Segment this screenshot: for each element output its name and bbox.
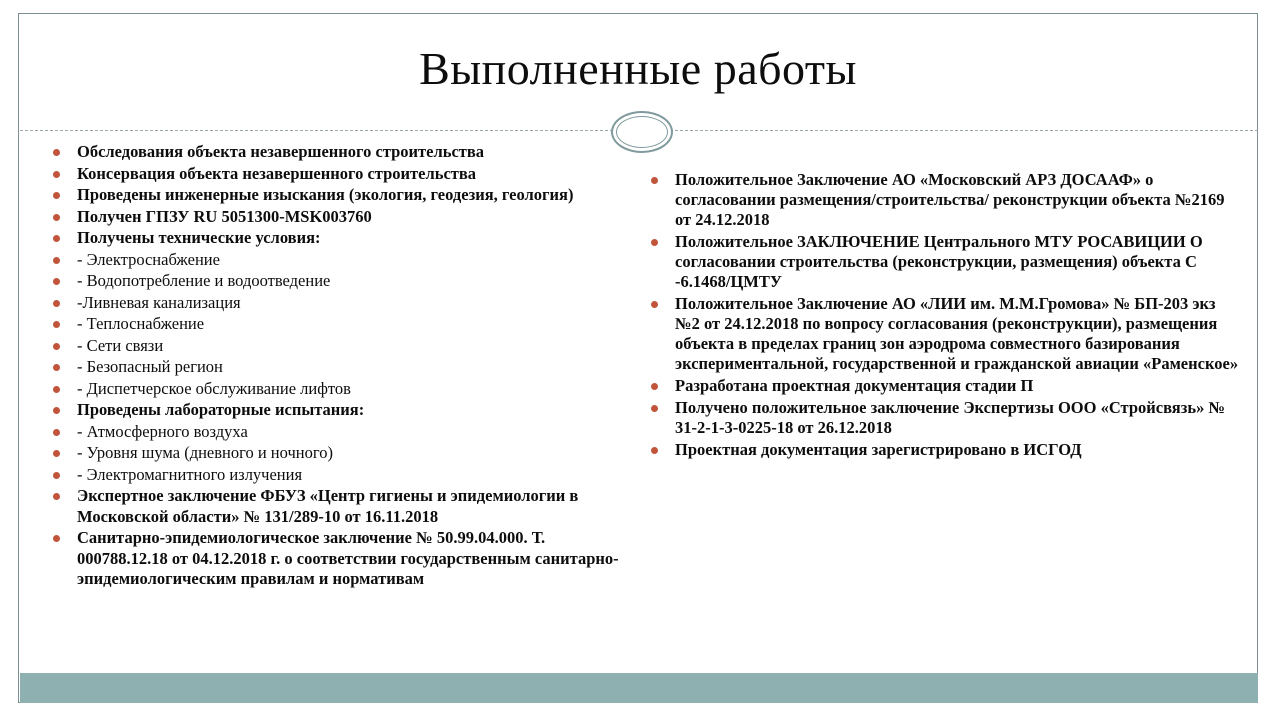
page-title: Выполненные работы xyxy=(19,42,1257,95)
content-columns: Обследования объекта незавершенного стро… xyxy=(19,142,1257,662)
list-item-left-8: - Теплоснабжение xyxy=(35,314,635,335)
list-item-left-17: Санитарно-эпидемиологическое заключение … xyxy=(35,528,635,590)
list-item-left-13: - Атмосферного воздуха xyxy=(35,422,635,443)
slide: Выполненные работы Обследования объекта … xyxy=(18,13,1258,703)
list-item-left-2: Проведены инженерные изыскания (экология… xyxy=(35,185,635,206)
list-item-right-3: Разработана проектная документация стади… xyxy=(633,376,1243,396)
list-item-left-7: -Ливневая канализация xyxy=(35,293,635,314)
list-item-right-1: Положительное ЗАКЛЮЧЕНИЕ Центрального МТ… xyxy=(633,232,1243,292)
list-item-right-4: Получено положительное заключение Экспер… xyxy=(633,398,1243,438)
list-item-right-0: Положительное Заключение АО «Московский … xyxy=(633,170,1243,230)
list-item-left-3: Получен ГПЗУ RU 5051300-MSK003760 xyxy=(35,207,635,228)
list-item-left-0: Обследования объекта незавершенного стро… xyxy=(35,142,635,163)
list-item-right-5: Проектная документация зарегистрировано … xyxy=(633,440,1243,460)
list-item-left-9: - Сети связи xyxy=(35,336,635,357)
list-item-left-4: Получены технические условия: xyxy=(35,228,635,249)
list-item-left-14: - Уровня шума (дневного и ночного) xyxy=(35,443,635,464)
list-item-left-5: - Электроснабжение xyxy=(35,250,635,271)
list-item-left-10: - Безопасный регион xyxy=(35,357,635,378)
list-item-left-1: Консервация объекта незавершенного строи… xyxy=(35,164,635,185)
list-item-right-2: Положительное Заключение АО «ЛИИ им. М.М… xyxy=(633,294,1243,374)
right-column: Положительное Заключение АО «Московский … xyxy=(633,142,1243,462)
list-item-left-11: - Диспетчерское обслуживание лифтов xyxy=(35,379,635,400)
bottom-accent-band xyxy=(20,673,1258,703)
left-bullet-list: Обследования объекта незавершенного стро… xyxy=(35,142,635,590)
left-column: Обследования объекта незавершенного стро… xyxy=(35,142,635,591)
list-item-left-12: Проведены лабораторные испытания: xyxy=(35,400,635,421)
right-bullet-list: Положительное Заключение АО «Московский … xyxy=(633,170,1243,460)
list-item-left-16: Экспертное заключение ФБУЗ «Центр гигиен… xyxy=(35,486,635,527)
list-item-left-6: - Водопотребление и водоотведение xyxy=(35,271,635,292)
list-item-left-15: - Электромагнитного излучения xyxy=(35,465,635,486)
